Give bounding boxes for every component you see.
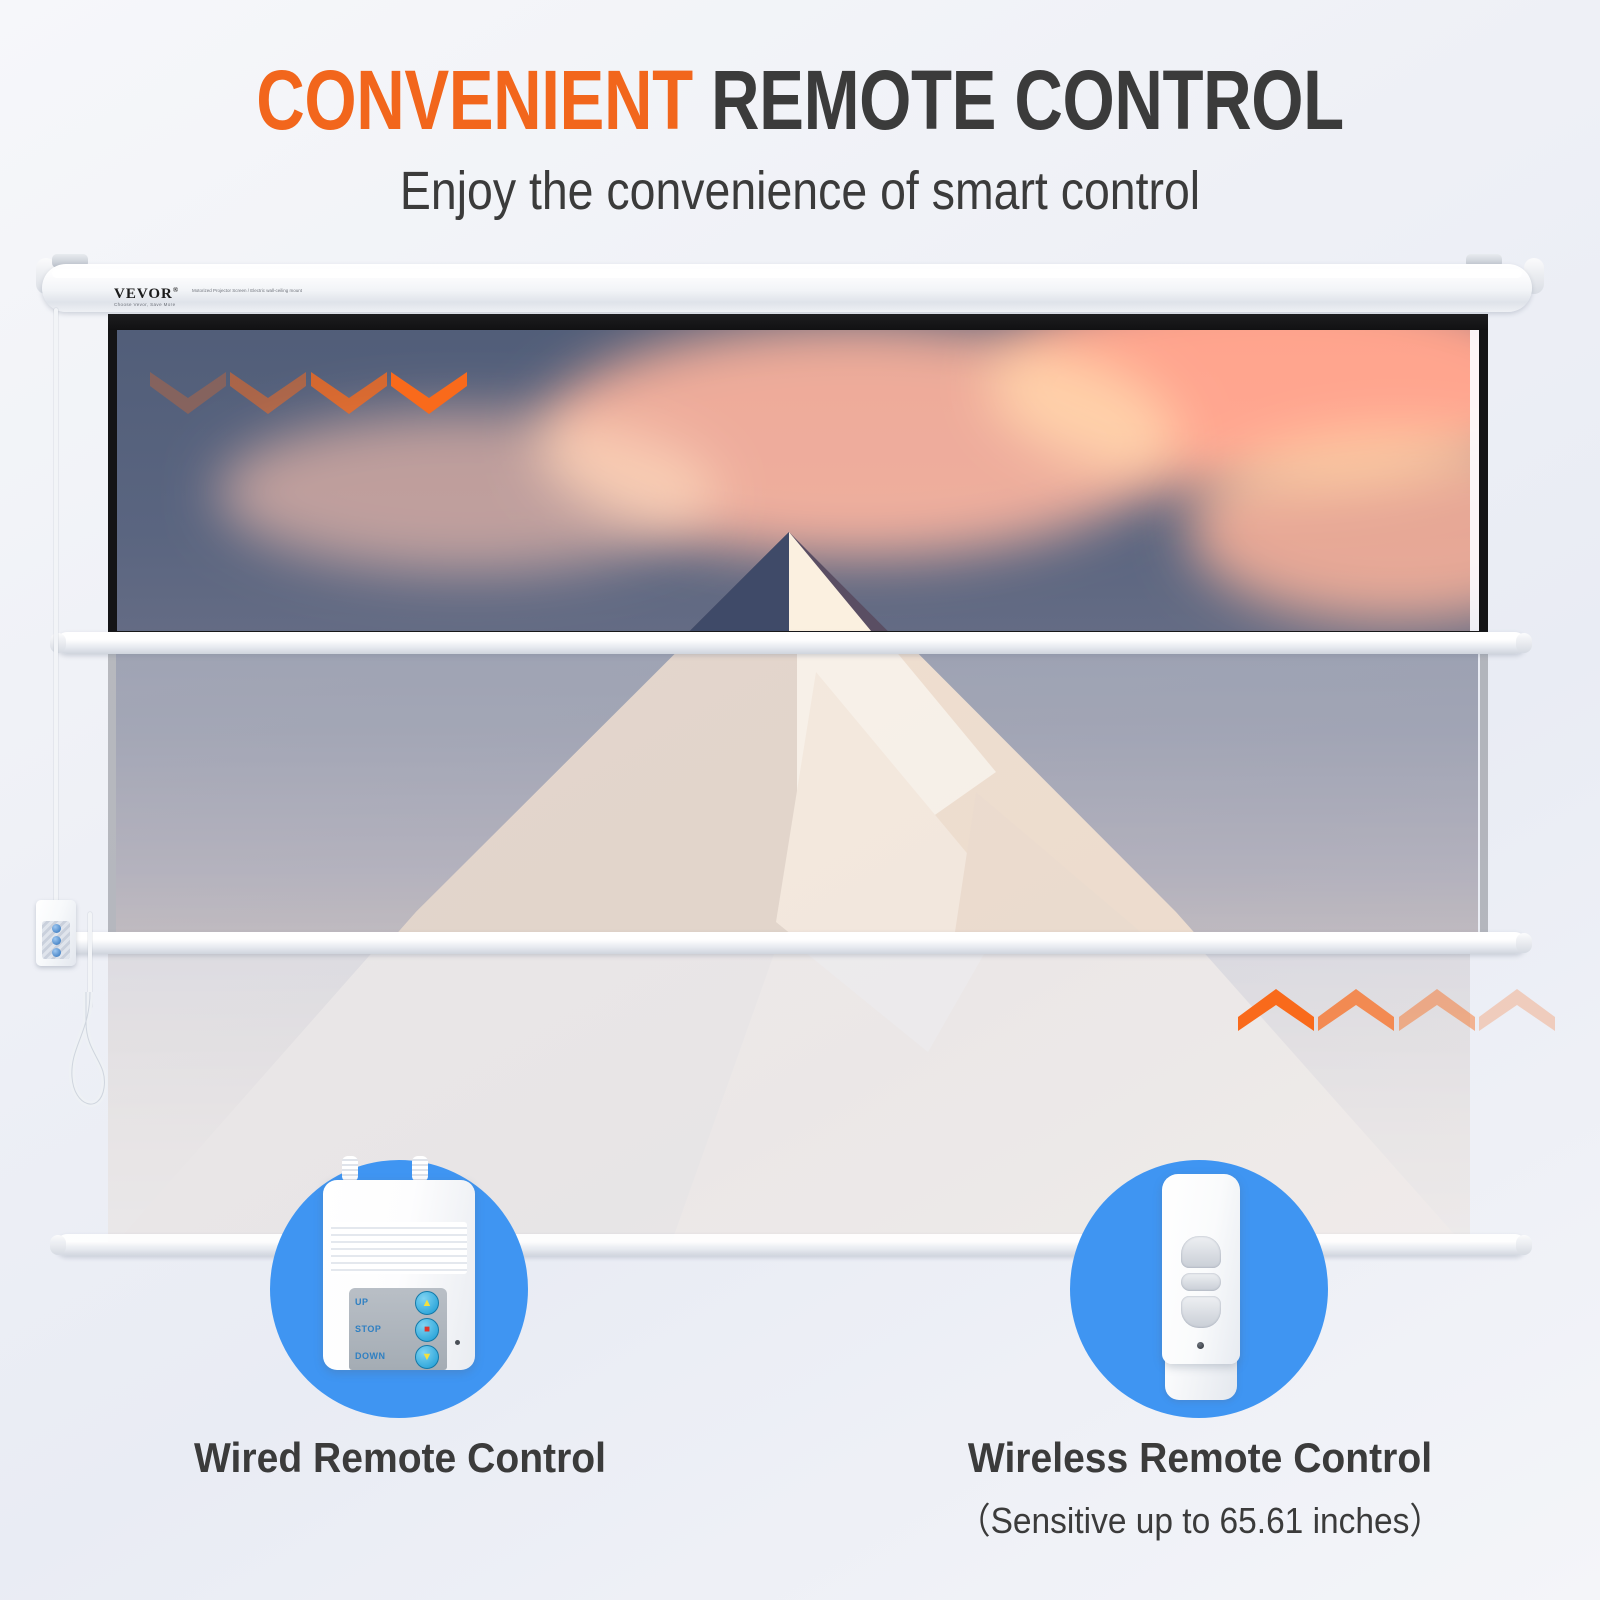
wireless-caption-title: Wireless Remote Control [949, 1434, 1451, 1482]
wireless-button-up[interactable] [1181, 1236, 1221, 1268]
wired-cable-right [412, 1156, 428, 1182]
screen-housing-casing: VEVOR® Choose Vevor, Save More Motorized… [42, 264, 1532, 312]
wired-remote-texture [331, 1222, 467, 1274]
wired-button-label-down: DOWN [355, 1351, 386, 1361]
up-chevron-icon [1318, 987, 1394, 1031]
screen-rail-middle [56, 932, 1526, 954]
screen-band-middle [108, 650, 1488, 940]
wireless-led-indicator [1197, 1342, 1204, 1349]
triangle-up-icon: ▲ [422, 1298, 433, 1309]
headline-highlight: CONVENIENT [256, 53, 693, 147]
brand-logo: VEVOR® [114, 286, 179, 303]
up-chevron-icon [1238, 987, 1314, 1031]
wireless-remote-device[interactable] [1162, 1174, 1240, 1364]
power-cord-vertical [54, 308, 58, 906]
wired-button-stop[interactable]: ■ [415, 1318, 439, 1342]
wireless-button-down[interactable] [1181, 1296, 1221, 1328]
housing-microtext: Motorized Projector Screen / Electric wa… [192, 288, 302, 294]
wired-caption-title: Wired Remote Control [149, 1434, 651, 1482]
wall-switch-button-up[interactable] [52, 924, 61, 933]
down-chevron-icon [391, 372, 467, 416]
page-subtitle: Enjoy the convenience of smart control [112, 162, 1488, 220]
screen-top-black-frame [108, 314, 1488, 330]
coiled-cable [60, 992, 130, 1122]
wall-switch-button-stop[interactable] [52, 936, 61, 945]
page-title: CONVENIENT REMOTE CONTROL [160, 56, 1440, 144]
feature-badges: UP ▲ STOP ■ DOWN ▼ [0, 1140, 1600, 1600]
wired-cable-left [342, 1156, 358, 1182]
wall-switch-panel [42, 921, 70, 959]
brand-logo-text: VEVOR [114, 286, 173, 302]
wall-switch-button-down[interactable] [52, 948, 61, 957]
down-direction-chevrons [150, 372, 467, 431]
wired-led-indicator [455, 1340, 460, 1345]
square-stop-icon: ■ [424, 1325, 430, 1335]
projector-screen-assembly: VEVOR® Choose Vevor, Save More Motorized… [0, 252, 1600, 1262]
wired-wall-switch[interactable] [36, 900, 76, 966]
wired-remote-device[interactable]: UP ▲ STOP ■ DOWN ▼ [323, 1180, 475, 1370]
brand-tagline: Choose Vevor, Save More [114, 302, 175, 307]
triangle-down-icon: ▼ [422, 1352, 433, 1363]
rail-cap-right [1516, 633, 1532, 653]
wired-button-up[interactable]: ▲ [415, 1291, 439, 1315]
wired-button-label-up: UP [355, 1297, 369, 1307]
wired-button-down[interactable]: ▼ [415, 1345, 439, 1369]
wireless-button-stop[interactable] [1181, 1273, 1221, 1291]
headline-rest: REMOTE CONTROL [711, 53, 1344, 147]
up-chevron-icon [1479, 987, 1555, 1031]
wired-remote-panel: UP ▲ STOP ■ DOWN ▼ [349, 1288, 447, 1370]
down-chevron-icon [150, 372, 226, 416]
up-chevron-icon [1399, 987, 1475, 1031]
wired-button-label-stop: STOP [355, 1324, 381, 1334]
wireless-caption-subtitle: （Sensitive up to 65.61 inches） [949, 1492, 1451, 1544]
down-chevron-icon [230, 372, 306, 416]
header: CONVENIENT REMOTE CONTROL Enjoy the conv… [0, 0, 1600, 220]
brand-trademark: ® [173, 286, 179, 294]
screen-rail-top [56, 632, 1526, 654]
rail-cap-right [1516, 933, 1532, 953]
up-direction-chevrons [1238, 987, 1555, 1046]
rail-cap-left [50, 633, 66, 653]
down-chevron-icon [311, 372, 387, 416]
